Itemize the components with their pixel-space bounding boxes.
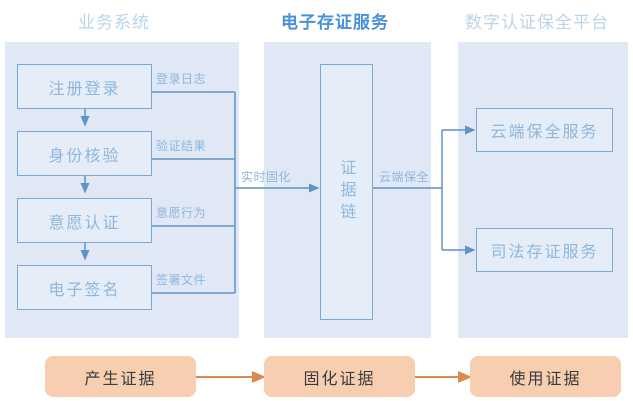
lifecycle-box-notarize-evidence[interactable]: 固化证据 (264, 356, 415, 397)
column-header-platform: 数字认证保全平台 (465, 8, 609, 33)
flow-box-cloud-preservation-service[interactable]: 云端保全服务 (476, 108, 613, 152)
column-header-business: 业务系统 (78, 8, 150, 33)
wire-label-realtime-notarize: 实时固化 (241, 168, 291, 185)
flow-box-register-login[interactable]: 注册登录 (17, 64, 152, 109)
lifecycle-box-generate-evidence[interactable]: 产生证据 (45, 356, 196, 397)
lifecycle-box-use-evidence[interactable]: 使用证据 (470, 356, 621, 397)
wire-label-signed-file: 签署文件 (156, 271, 206, 288)
flow-box-e-signature[interactable]: 电子签名 (17, 265, 152, 310)
flow-box-judicial-deposit-service[interactable]: 司法存证服务 (476, 228, 613, 272)
flow-box-intent-auth[interactable]: 意愿认证 (17, 198, 152, 243)
diagram-canvas: 业务系统 电子存证服务 数字认证保全平台 (0, 0, 633, 401)
panel-platform (458, 42, 628, 338)
wire-label-verify-result: 验证结果 (156, 137, 206, 154)
wire-label-cloud-preservation: 云端保全 (379, 168, 429, 185)
wire-label-login-log: 登录日志 (156, 70, 206, 87)
flow-box-identity-verify[interactable]: 身份核验 (17, 131, 152, 176)
column-header-evidence: 电子存证服务 (281, 8, 389, 33)
wire-label-intent-behavior: 意愿行为 (156, 204, 206, 221)
flow-box-evidence-chain[interactable]: 证据链 (320, 64, 373, 320)
